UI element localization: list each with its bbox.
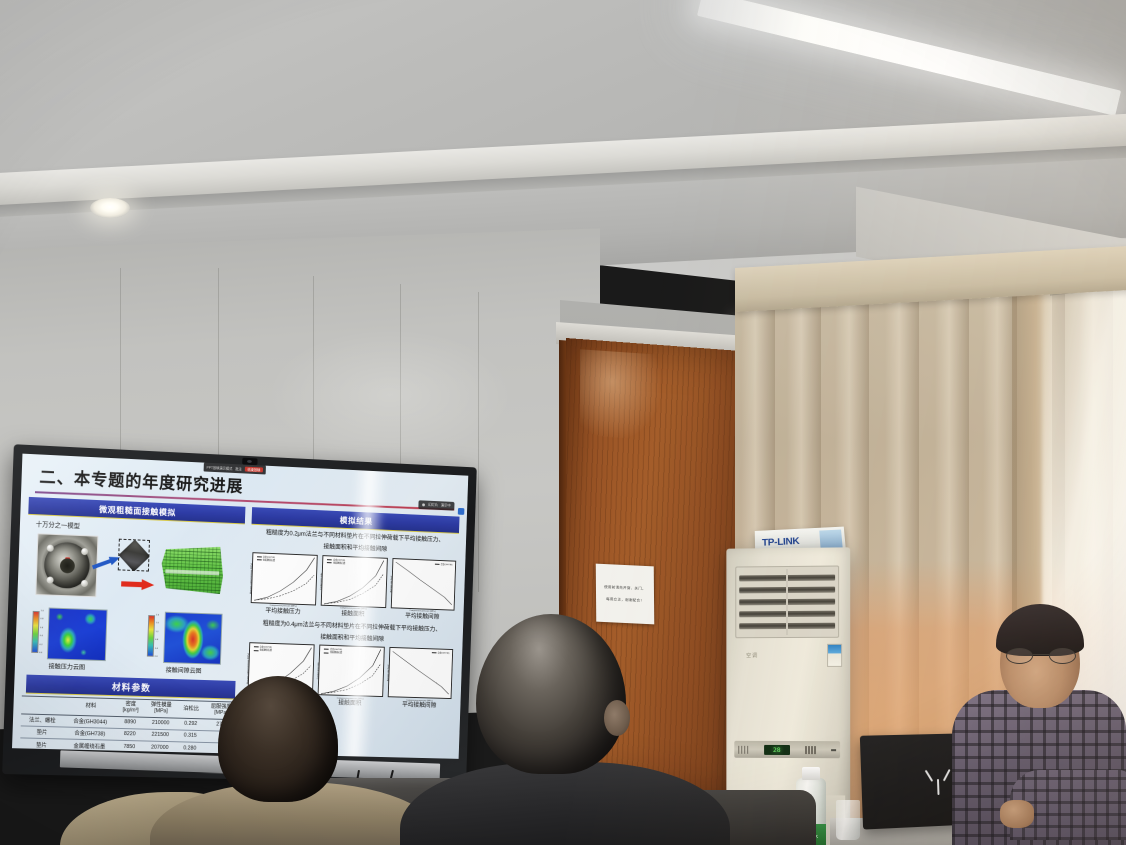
left-panel: 微观粗糙面接触模拟 十万分之一模型 <box>20 497 245 756</box>
material-table-th-group <box>21 696 64 715</box>
ceiling-downlight-1 <box>90 198 130 218</box>
material-table-th-poisson: 泊松比 <box>178 700 205 718</box>
contact-pressure-contour <box>47 607 108 661</box>
row-poisson: 0.315 <box>177 730 204 743</box>
audience-center-ear <box>604 700 630 736</box>
row-group-label: 垫片 <box>20 726 63 739</box>
energy-label-sticker <box>827 644 842 667</box>
material-parameters-table: 材料 密度 [kg/m³] 弹性模量 [MPa] <box>20 695 238 755</box>
row-density: 8220 <box>116 728 143 741</box>
material-table-th-modulus: 弹性模量 [MPa] <box>144 699 179 717</box>
ppt-overlay-mode-label: PPT放映演示模式 <box>207 465 233 471</box>
row-modulus: 207000 <box>143 741 177 754</box>
chart-series-svg <box>251 553 317 604</box>
chart-plot-area: 合金(GH738) 金属缠绕石墨 Average contact pressur… <box>250 552 318 605</box>
chart-ylabel: Average gap [μm] <box>390 575 392 592</box>
ac-vent-left-icon <box>738 745 748 753</box>
red-arrow-icon <box>121 578 154 590</box>
flange-specimen-photo <box>35 533 98 597</box>
row-density: 8890 <box>117 716 144 729</box>
chart-r2c2: 合金(GH738) 金属缠绕石墨 Contact area ratio <box>317 645 384 708</box>
ac-air-grille <box>735 566 839 639</box>
door-notice-line-2: 每用立正，谢谢配合！ <box>606 597 644 604</box>
ac-temperature-display: 28 <box>764 744 790 754</box>
chart-r2c3: 合金(GH738) Average gap [μm] Compressive p… <box>387 647 453 710</box>
row-poisson: 0.280 <box>177 742 204 755</box>
material-table-th-material: 材料 <box>64 697 118 716</box>
chart-series-svg <box>388 648 452 698</box>
drinking-glass <box>836 800 860 840</box>
ac-brand-label: 空调 <box>746 652 758 659</box>
chart-plot-area: 合金(GH738) 金属缠绕石墨 Contact area ratio <box>321 555 388 608</box>
bottle-cap <box>802 767 820 780</box>
row-group-label: 垫片 <box>20 738 63 751</box>
conference-room-scene: 使用前请先开窗、关门， 每用立正，谢谢配合！ PPT放映演示模式 批注 <box>0 0 1126 845</box>
row-modulus: 210000 <box>143 717 177 730</box>
chart-r1c2: 合金(GH738) 金属缠绕石墨 Contact area ratio <box>320 555 387 619</box>
micro-surface-sample <box>118 539 150 571</box>
material-table-body: 法兰、螺栓 合金(GH3044) 8890 210000 0.292 275 垫… <box>20 714 238 756</box>
row-group-label: 法兰、螺栓 <box>21 714 64 727</box>
ppt-toolbar-left-label: 幻灯片 <box>428 503 438 508</box>
door-notice-sign: 使用前请先开窗、关门， 每用立正，谢谢配合！ <box>596 564 655 625</box>
row-density: 7850 <box>116 740 143 753</box>
chart-plot-area: 合金(GH738) Average gap [μm] Compressive p… <box>387 647 453 699</box>
ppt-overlay-end-button[interactable]: 结束放映 <box>245 467 264 473</box>
wood-panel-highlight <box>580 349 660 441</box>
contact-gap-contour <box>163 612 223 665</box>
ac-control-panel[interactable]: 28 <box>734 741 840 758</box>
ppt-overlay-annotate-button[interactable]: 批注 <box>235 466 242 471</box>
slide-page-badge-icon <box>458 508 465 515</box>
model-diagram-row <box>25 529 244 611</box>
chart-series-svg <box>322 556 387 607</box>
chart-plot-area: 合金(GH738) 金属缠绕石墨 Contact area ratio <box>318 645 385 697</box>
chart-plot-area: 合金(GH738) Average gap [μm] Compressive p… <box>390 558 456 611</box>
row-poisson: 0.292 <box>177 718 204 731</box>
seated-man-hand <box>1000 800 1034 828</box>
ac-vent-right-icon <box>805 746 815 754</box>
contour-plot-row: 1.0 0.8 0.6 0.4 0.2 0.0 接触压力云图 <box>23 605 242 679</box>
ac-status-led <box>831 749 836 751</box>
chart-r1c3: 合金(GH738) Average gap [μm] Compressive p… <box>390 558 456 621</box>
door-notice-line-1: 使用前请先开窗、关门， <box>604 585 646 592</box>
row-modulus: 221500 <box>143 729 177 742</box>
contact-gap-caption: 接触间隙云图 <box>166 665 202 675</box>
tplink-brand-label: TP-LINK <box>762 536 800 548</box>
eyeglasses-icon <box>1006 648 1076 664</box>
contact-pressure-caption: 接触压力云图 <box>48 661 85 671</box>
wall-light-reflection <box>270 330 510 460</box>
legion-y-logo-icon <box>927 769 950 796</box>
fem-mesh-model <box>161 544 224 594</box>
chart-ylabel: Average gap [μm] <box>387 665 389 682</box>
chart-series-svg <box>391 559 455 610</box>
chart-r1c1: 合金(GH738) 金属缠绕石墨 Average contact pressur… <box>250 552 318 616</box>
ppt-status-toolbar[interactable]: 幻灯片 演示中 <box>419 500 455 510</box>
ppt-toolbar-dot-icon <box>423 503 426 506</box>
chart-row-1: 合金(GH738) 金属缠绕石墨 Average contact pressur… <box>250 552 456 621</box>
chart-series-svg <box>319 646 384 696</box>
zoom-region-box <box>118 539 150 572</box>
chart-ylabel: Average contact pressure [MPa] <box>250 563 253 594</box>
ppt-toolbar-right-label: 演示中 <box>441 503 451 508</box>
material-table-th-density: 密度 [kg/m³] <box>117 699 144 717</box>
chart-ylabel: Average contact pressure [MPa] <box>246 653 249 684</box>
